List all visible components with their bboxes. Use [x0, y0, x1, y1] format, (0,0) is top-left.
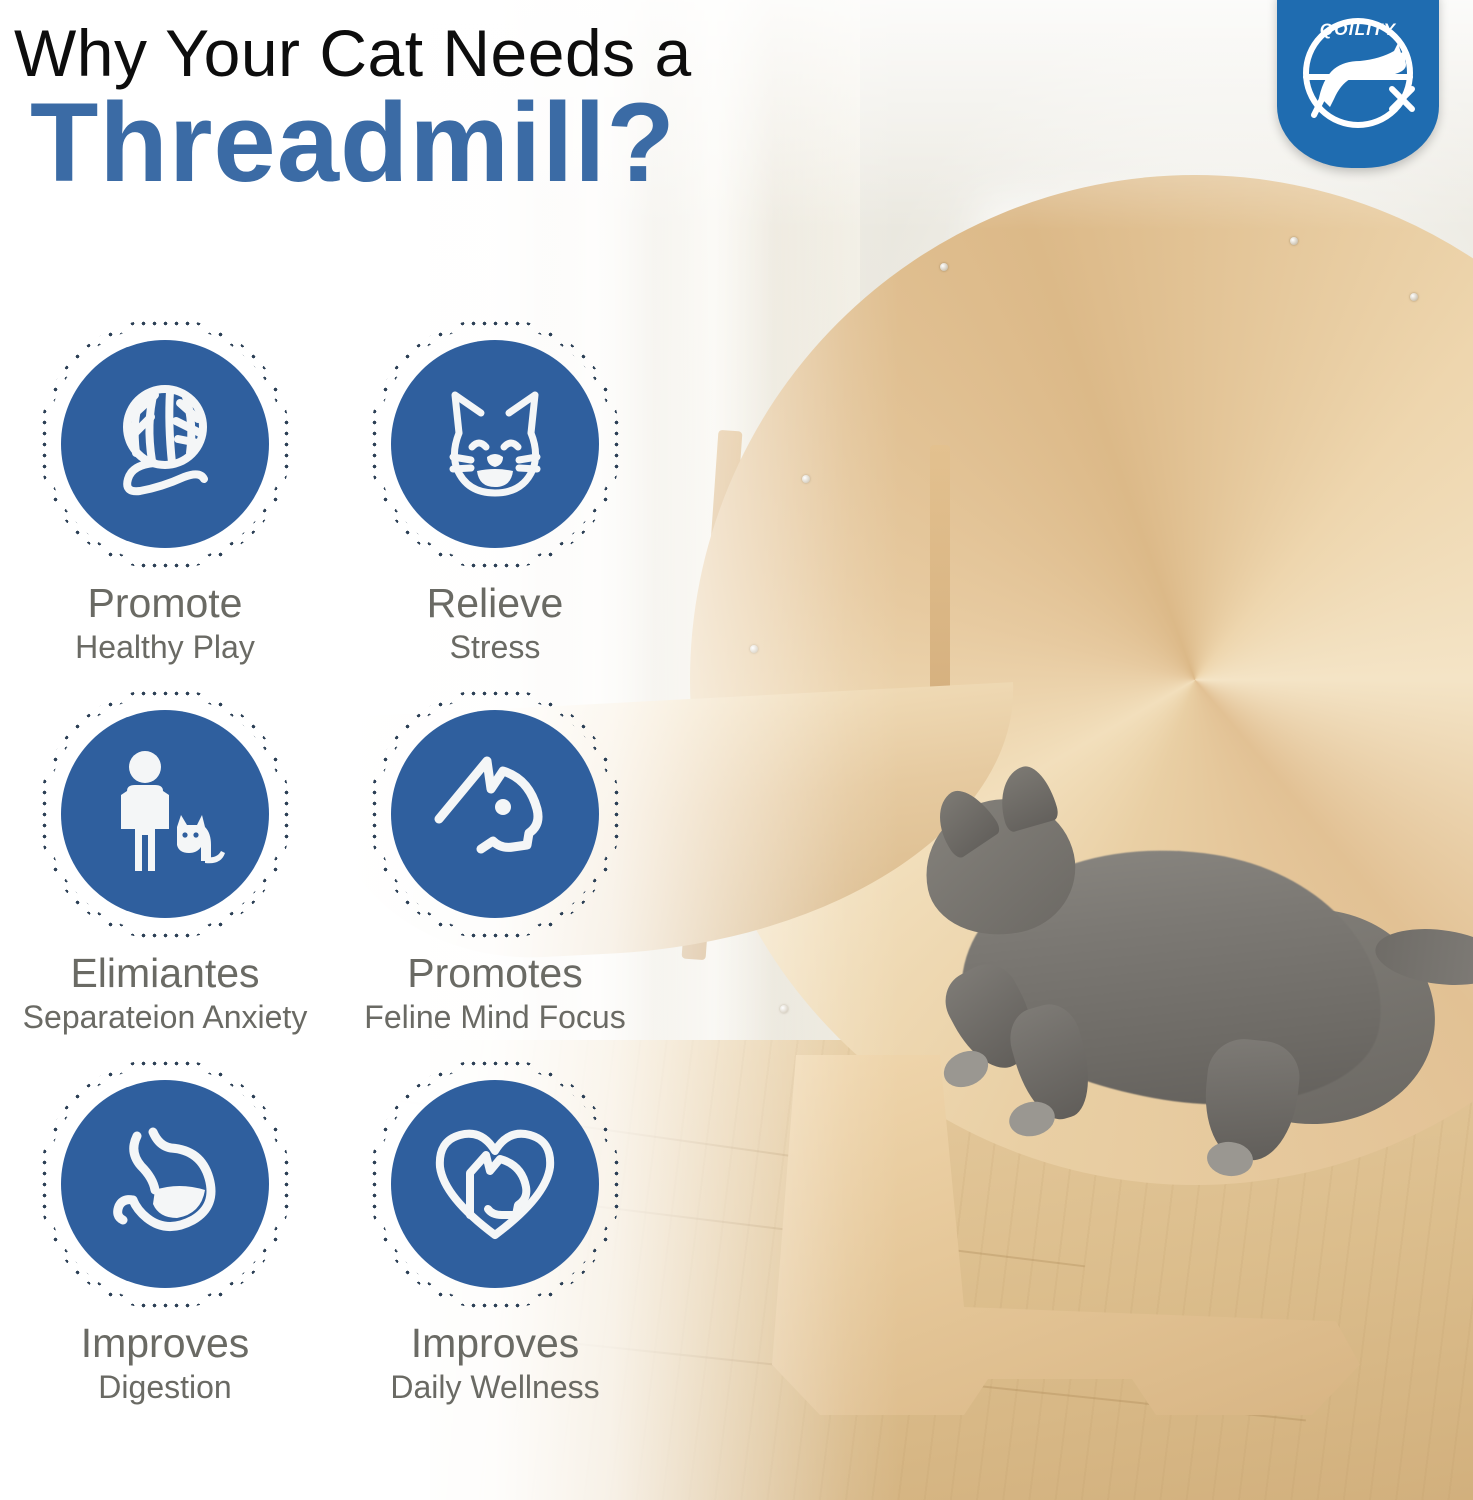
feature-subtitle: Separateion Anxiety	[23, 998, 308, 1036]
icon-badge	[369, 318, 621, 570]
feature-item-promote-healthy-play: Promote Healthy Play	[0, 318, 330, 688]
feature-item-promotes-feline-mind-focus: Promotes Feline Mind Focus	[330, 688, 660, 1058]
feature-subtitle: Digestion	[98, 1368, 231, 1406]
cat-head-profile-icon	[429, 751, 561, 877]
infographic-root: Why Your Cat Needs a Threadmill? QOILITY	[0, 0, 1473, 1500]
stomach-icon	[101, 1122, 229, 1246]
icon-badge	[369, 688, 621, 940]
feature-subtitle: Daily Wellness	[390, 1368, 599, 1406]
feature-title: Improves	[411, 1320, 580, 1366]
happy-cat-face-icon	[431, 381, 559, 507]
icon-circle	[391, 340, 599, 548]
icon-circle	[391, 1080, 599, 1288]
feature-subtitle: Healthy Play	[75, 628, 255, 666]
icon-circle	[61, 1080, 269, 1288]
icon-circle	[391, 710, 599, 918]
cat-photo-subject	[905, 790, 1465, 1250]
feature-title: Elimiantes	[70, 950, 259, 996]
icon-badge	[39, 688, 291, 940]
headline-line-2: Threadmill?	[30, 84, 692, 202]
icon-circle	[61, 710, 269, 918]
headline: Why Your Cat Needs a Threadmill?	[14, 16, 692, 202]
icon-circle	[61, 340, 269, 548]
headline-line-1: Why Your Cat Needs a	[14, 16, 692, 90]
icon-badge	[39, 1058, 291, 1310]
icon-badge	[39, 318, 291, 570]
person-with-cat-icon	[101, 749, 229, 879]
feature-item-improves-daily-wellness: Improves Daily Wellness	[330, 1058, 660, 1428]
feature-title: Relieve	[427, 580, 564, 626]
feature-title: Improves	[81, 1320, 250, 1366]
icon-badge	[369, 1058, 621, 1310]
feature-item-relieve-stress: Relieve Stress	[330, 318, 660, 688]
yarn-ball-icon	[102, 381, 228, 507]
brand-logo-badge: QOILITY	[1277, 0, 1439, 168]
heart-with-cat-icon	[430, 1123, 560, 1245]
brand-name: QOILITY	[1277, 20, 1439, 40]
feature-title: Promote	[88, 580, 243, 626]
feature-item-eliminates-separation-anxiety: Elimiantes Separateion Anxiety	[0, 688, 330, 1058]
feature-subtitle: Feline Mind Focus	[364, 998, 625, 1036]
feature-item-improves-digestion: Improves Digestion	[0, 1058, 330, 1428]
feature-subtitle: Stress	[450, 628, 541, 666]
feature-title: Promotes	[407, 950, 582, 996]
feature-grid: Promote Healthy Play	[0, 318, 660, 1428]
